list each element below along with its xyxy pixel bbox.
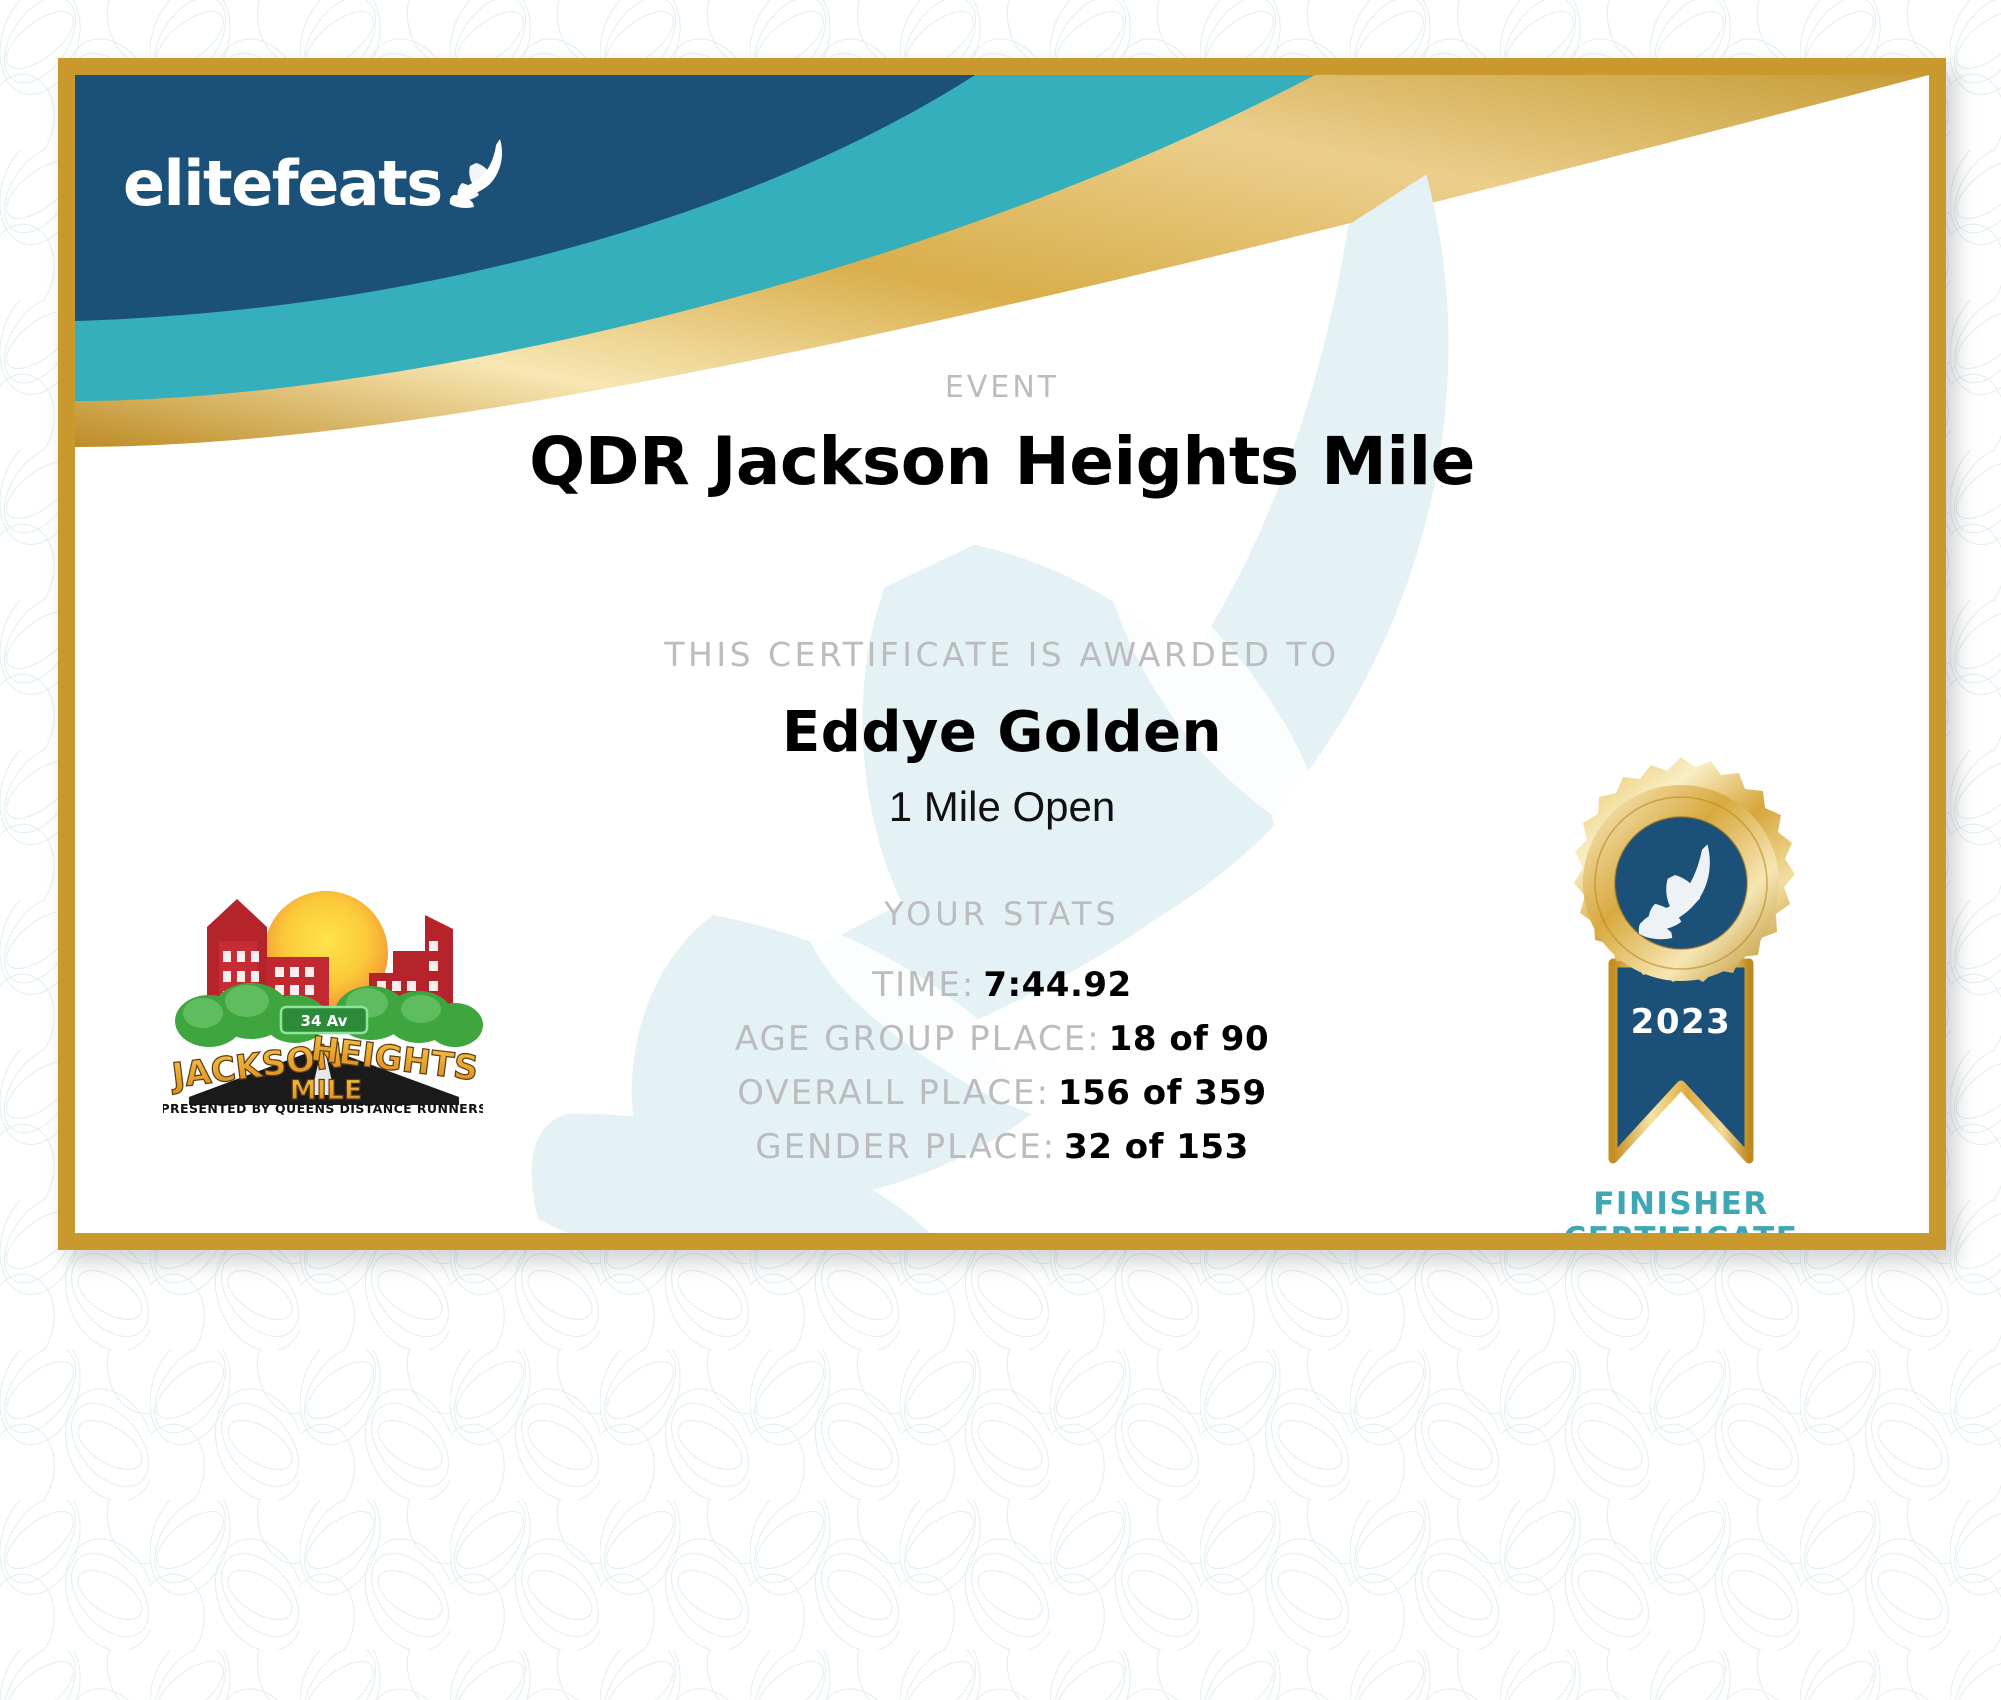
race-logo: 34 Av JACKSON HEIGHTS MILE PRESENTED BY …: [163, 865, 483, 1115]
certificate-body: elitefeats: [75, 75, 1929, 1233]
stat-label: GENDER PLACE:: [755, 1127, 1056, 1167]
medal-caption-line1: FINISHER: [1521, 1187, 1841, 1222]
event-name: QDR Jackson Heights Mile: [75, 423, 1929, 500]
stat-label: AGE GROUP PLACE:: [735, 1019, 1101, 1059]
finisher-medal: 2023: [1531, 755, 1831, 1185]
medal-year: 2023: [1631, 1002, 1732, 1042]
street-sign-text: 34 Av: [301, 1012, 348, 1030]
awarded-to-label: THIS CERTIFICATE IS AWARDED TO: [75, 635, 1929, 674]
stat-value: 18 of 90: [1109, 1019, 1269, 1059]
stat-value: 32 of 153: [1064, 1127, 1249, 1167]
certificate-page: elitefeats: [0, 0, 2001, 1700]
medal-caption: FINISHER CERTIFICATE: [1521, 1187, 1841, 1233]
finisher-medal-block: 2023: [1521, 755, 1841, 1233]
certificate-gold-border: elitefeats: [58, 58, 1946, 1250]
medal-caption-line2: CERTIFICATE: [1521, 1222, 1841, 1233]
stat-value: 7:44.92: [983, 965, 1131, 1005]
race-presented-by: PRESENTED BY QUEENS DISTANCE RUNNERS: [163, 1101, 483, 1115]
stat-label: OVERALL PLACE:: [737, 1073, 1050, 1113]
event-label: EVENT: [75, 370, 1929, 405]
stat-label: TIME:: [872, 965, 975, 1005]
stat-value: 156 of 359: [1058, 1073, 1267, 1113]
certificate-content: EVENT QDR Jackson Heights Mile THIS CERT…: [75, 75, 1929, 1233]
